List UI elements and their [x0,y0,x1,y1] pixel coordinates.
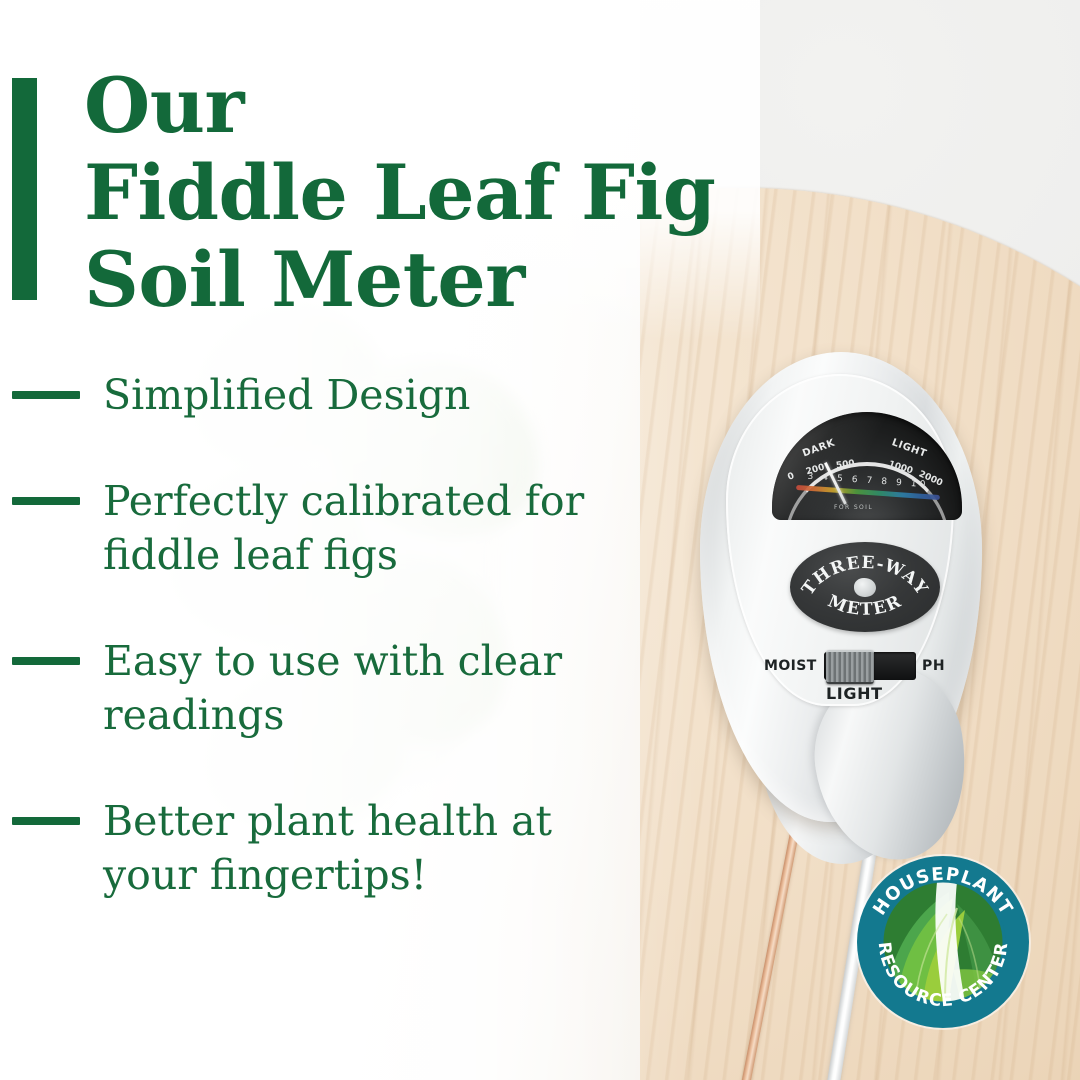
list-item: Perfectly calibrated for fiddle leaf fig… [0,474,640,582]
title-accent-bar [12,78,37,300]
meter-gauge-display: DARK LIGHT 0 200 500 1000 2000 3 4 5 6 7… [772,412,962,520]
infographic-canvas: Our Fiddle Leaf Fig Soil Meter Simplifie… [0,0,1080,1080]
title-line-2: Fiddle Leaf Fig [84,149,804,236]
dash-bullet-icon [12,497,80,505]
three-way-meter-badge: THREE-WAY METER [790,542,940,632]
switch-label-moist: MOIST [764,658,817,674]
dash-bullet-icon [12,817,80,825]
list-item: Simplified Design [0,368,640,422]
switch-knob[interactable] [826,650,874,684]
switch-label-light: LIGHT [826,684,883,703]
dash-bullet-icon [12,657,80,665]
feature-text: Better plant health at your fingertips! [103,794,603,902]
houseplant-resource-center-logo: HOUSEPLANT RESOURCE CENTER [853,852,1033,1032]
title-line-3: Soil Meter [84,236,804,323]
feature-list: Simplified Design Perfectly calibrated f… [0,368,640,954]
list-item: Easy to use with clear readings [0,634,640,742]
page-title: Our Fiddle Leaf Fig Soil Meter [84,62,804,323]
title-line-1: Our [84,62,804,149]
gauge-glass-reflection [772,412,962,520]
meter-face-plate: DARK LIGHT 0 200 500 1000 2000 3 4 5 6 7… [726,374,954,706]
feature-text: Perfectly calibrated for fiddle leaf fig… [103,474,603,582]
dash-bullet-icon [12,391,80,399]
switch-label-ph: PH [922,658,945,674]
feature-text: Easy to use with clear readings [103,634,603,742]
soil-meter-device: DARK LIGHT 0 200 500 1000 2000 3 4 5 6 7… [700,352,982,852]
feature-text: Simplified Design [103,368,470,422]
badge-center-dot [854,578,876,597]
mode-switch[interactable]: MOIST PH LIGHT [764,646,970,708]
list-item: Better plant health at your fingertips! [0,794,640,902]
